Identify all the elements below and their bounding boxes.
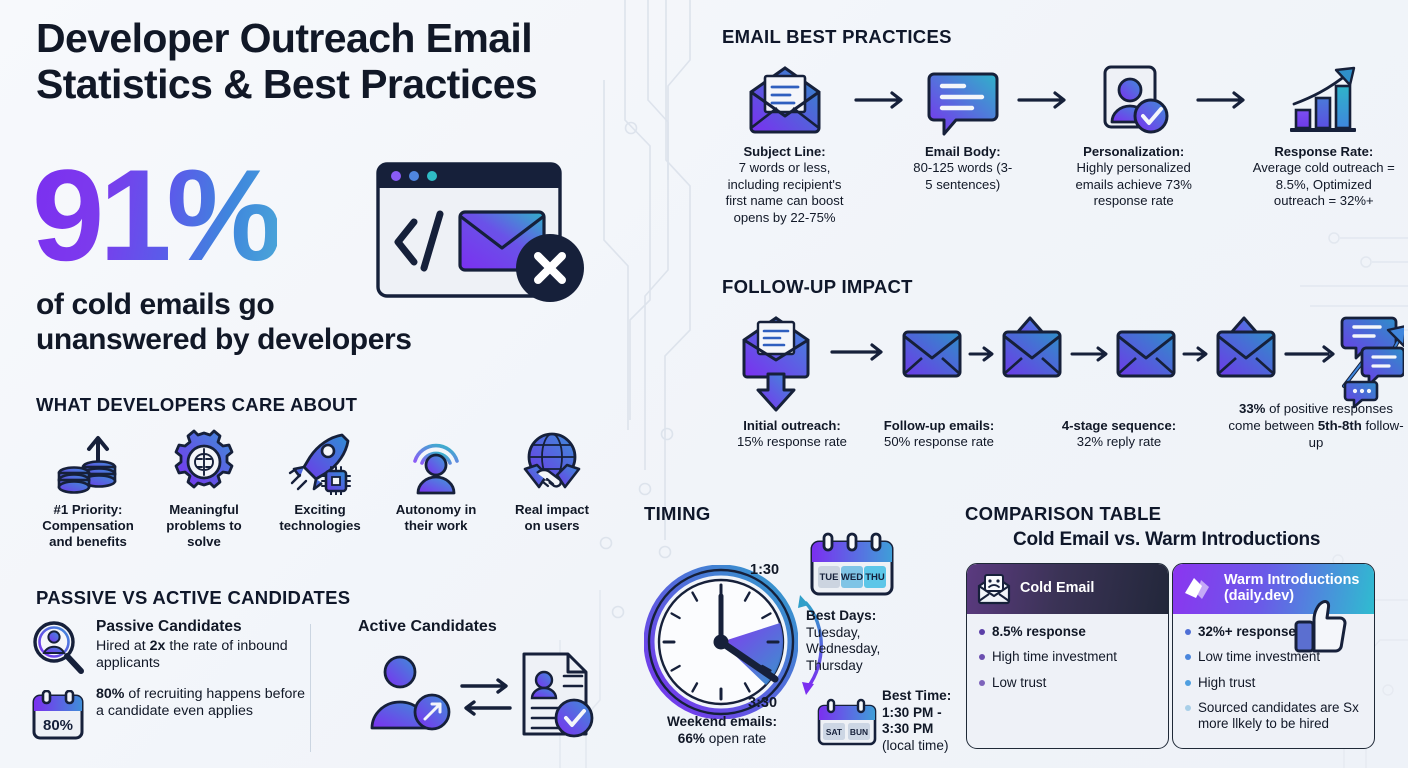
bullet-dot [1185,629,1191,635]
chat-bubble-icon [910,62,1016,138]
browser-window-code-email-rejected-icon [372,156,594,308]
rocket-chip-icon [262,425,378,495]
followup-body: 32% reply rate [1077,434,1161,449]
page-title-line2: Statistics & Best Practices [36,62,636,108]
weekend-emails-stat: Weekend emails: 66% open rate [642,714,802,747]
arrow-right-icon [853,62,910,138]
arrow-right-icon [1195,62,1252,138]
followup-result-bold2: 5th-8th [1318,418,1362,433]
best-days-body: Tuesday, Wednesday, Thursday [806,625,956,675]
sad-envelope-icon [976,573,1012,605]
candidates-comparison: Passive Candidates Hired at 2x the rate … [30,618,630,766]
passive-candidates-row: Passive Candidates Hired at 2x the rate … [30,618,316,676]
cold-email-item-0: 8.5% response [992,624,1086,640]
best-practice-step-personalization: Personalization: Highly personalized ema… [1072,62,1194,210]
envelope-up-arrow-icon [1218,318,1274,376]
envelope-up-arrow-icon [1004,318,1060,376]
list-item: High trust [1185,675,1364,691]
followup-caption-followups: Follow-up emails: 50% response rate [864,418,1014,451]
best-practice-title: Email Body: [910,144,1016,160]
svg-text:THU: THU [865,572,885,583]
list-item: Sourced candidates are Sx more llkely to… [1185,700,1364,733]
comparison-card-cold-email: Cold Email 8.5% response High time inves… [966,563,1169,749]
followup-body: 15% response rate [737,434,847,449]
weekend-emails-label: Weekend emails: [667,714,777,729]
best-practice-title: Response Rate: [1252,144,1396,160]
svg-text:TUE: TUE [820,572,839,583]
passive-candidates-body-pre: Hired at [96,638,150,654]
comparison-card-warm-intro: Warm Introductions (daily.dev) 32%+ resp… [1172,563,1375,749]
best-practice-title: Subject Line: [716,144,853,160]
passive-candidates-title: Passive Candidates [96,618,316,637]
person-badge-check-icon [1072,62,1194,138]
warm-intro-item-3: Sourced candidates are Sx more llkely to… [1198,700,1364,733]
best-days-title: Best Days: [806,608,876,623]
calendar-80-percent-icon: 80% [30,690,86,742]
followup-title: 4-stage sequence: [1034,418,1204,434]
clock-end-label: 3:30 [748,695,777,711]
svg-text:SAT: SAT [826,727,843,737]
care-section-heading: WHAT DEVELOPERS CARE ABOUT [36,394,357,416]
envelope-icon [1118,332,1174,376]
chat-bubbles-growth-icon [1342,318,1404,407]
best-practices-flow: Subject Line: 7 words or less, including… [716,62,1396,226]
comparison-subtitle: Cold Email vs. Warm Introductions [1013,529,1320,551]
weekend-emails-value: 66% [678,731,705,746]
envelope-icon [904,332,960,376]
list-item: Low trust [979,675,1158,691]
bar-chart-growth-icon [1252,62,1396,138]
followup-section-heading: FOLLOW-UP IMPACT [722,276,913,298]
followup-result-text: 33% of positive responses come between 5… [1228,400,1404,451]
best-days-text: Best Days: Tuesday, Wednesday, Thursday [806,608,956,674]
cold-email-card-header: Cold Email [967,564,1168,614]
list-item: High time investment [979,649,1158,665]
best-practice-caption: Subject Line: 7 words or less, including… [716,144,853,226]
care-item-label: Real impact on users [494,502,610,534]
followup-title: Follow-up emails: [864,418,1014,434]
globe-handshake-icon [494,425,610,495]
care-item-meaningful-problems: Meaningful problems to solve [146,425,262,550]
bullet-dot [1185,654,1191,660]
big-stat-caption-line2: unanswered by developers [36,322,596,357]
weekend-emails-rest: open rate [705,731,766,746]
gear-brain-icon [146,425,262,495]
followup-body: 50% response rate [884,434,994,449]
best-practice-caption: Email Body: 80-125 words (3-5 sentences) [910,144,1016,193]
best-practice-body: 80-125 words (3-5 sentences) [913,160,1012,191]
care-item-label: Meaningful problems to solve [146,502,262,550]
recruiting-stat-rest: of recruiting happens before a candidate… [96,686,305,719]
best-practice-caption: Response Rate: Average cold outreach = 8… [1252,144,1396,210]
infographic-page: Developer Outreach Email Statistics & Be… [0,0,1408,768]
warm-intro-card-title: Warm Introductions [1224,573,1359,589]
svg-text:WED: WED [841,572,863,583]
best-practices-heading: EMAIL BEST PRACTICES [722,26,952,48]
best-time-line2: 3:30 PM [882,721,933,736]
care-about-list: #1 Priority: Compensation and benefits M… [30,425,630,550]
warm-intro-item-2: High trust [1198,675,1255,691]
best-practice-body: Highly personalized emails achieve 73% r… [1075,160,1191,208]
timing-section-heading: TIMING [644,503,711,525]
passive-candidates-text: Passive Candidates Hired at 2x the rate … [96,618,316,673]
bullet-dot [1185,680,1191,686]
daily-dev-logo-icon [1182,574,1216,604]
big-stat-91-percent: 91% [32,150,277,280]
passive-candidates-column: Passive Candidates Hired at 2x the rate … [30,618,330,766]
timing-section: 1:30 3:30 Weekend emails: 66% open rate … [640,540,960,768]
recruiting-stat-row: 80% 80% of recruiting happens before a c… [30,686,316,742]
warm-intro-item-0: 32%+ response [1198,624,1296,640]
list-item: 8.5% response [979,624,1158,640]
bullet-dot [979,680,985,686]
care-item-exciting-tech: Exciting technologies [262,425,378,550]
arrow-right-icon [1016,62,1073,138]
calendar-weekdays-icon: TUE WED THU [808,532,896,602]
cold-email-card-title: Cold Email [1020,581,1094,597]
bullet-dot [979,654,985,660]
care-item-label: #1 Priority: Compensation and benefits [30,502,146,550]
care-item-label: Autonomy in their work [378,502,494,534]
magnifier-person-icon [30,620,86,676]
best-practice-body: 7 words or less, including recipient's f… [726,160,844,224]
best-practice-step-subject-line: Subject Line: 7 words or less, including… [716,62,853,226]
cold-email-item-1: High time investment [992,649,1117,665]
best-practice-caption: Personalization: Highly personalized ema… [1072,144,1194,210]
svg-text:80%: 80% [43,717,73,734]
open-envelope-icon [716,62,853,138]
recruiting-stat-text: 80% of recruiting happens before a candi… [96,686,316,721]
recruiting-stat-bold: 80% [96,686,124,702]
cold-email-card-body: 8.5% response High time investment Low t… [967,614,1168,708]
best-time-line1: 1:30 PM - [882,705,942,720]
active-candidates-title: Active Candidates [358,618,620,636]
comparison-section-heading: COMPARISON TABLE [965,503,1161,525]
care-item-autonomy: Autonomy in their work [378,425,494,550]
bullet-dot [979,629,985,635]
followup-caption-initial: Initial outreach: 15% response rate [716,418,868,451]
best-practice-body: Average cold outreach = 8.5%, Optimized … [1253,160,1395,208]
best-practice-title: Personalization: [1072,144,1194,160]
page-title: Developer Outreach Email Statistics & Be… [36,16,636,108]
coins-growth-icon [30,425,146,495]
person-resume-exchange-icon [358,646,598,738]
passive-candidates-body-bold: 2x [150,638,166,654]
bullet-dot [1185,705,1191,711]
care-item-compensation: #1 Priority: Compensation and benefits [30,425,146,550]
thumbs-up-icon [1292,598,1348,656]
svg-text:BUN: BUN [850,727,868,737]
clock-start-label: 1:30 [750,562,779,578]
candidates-section-heading: PASSIVE VS ACTIVE CANDIDATES [36,587,350,609]
page-title-line1: Developer Outreach Email [36,16,636,62]
best-time-title: Best Time: [882,688,951,703]
followup-title: Initial outreach: [716,418,868,434]
care-item-label: Exciting technologies [262,502,378,534]
calendar-weekend-icon: SAT BUN [816,698,878,748]
care-item-real-impact: Real impact on users [494,425,610,550]
followup-flow-icons [716,312,1404,412]
best-practice-step-email-body: Email Body: 80-125 words (3-5 sentences) [910,62,1016,193]
best-practice-step-response-rate: Response Rate: Average cold outreach = 8… [1252,62,1396,210]
cold-email-item-2: Low trust [992,675,1046,691]
followup-caption-sequence: 4-stage sequence: 32% reply rate [1034,418,1204,451]
person-signal-icon [378,425,494,495]
followup-result-bold1: 33% [1239,401,1265,416]
envelope-down-arrow-icon [744,318,808,410]
active-candidates-column: Active Candidates [330,618,620,766]
